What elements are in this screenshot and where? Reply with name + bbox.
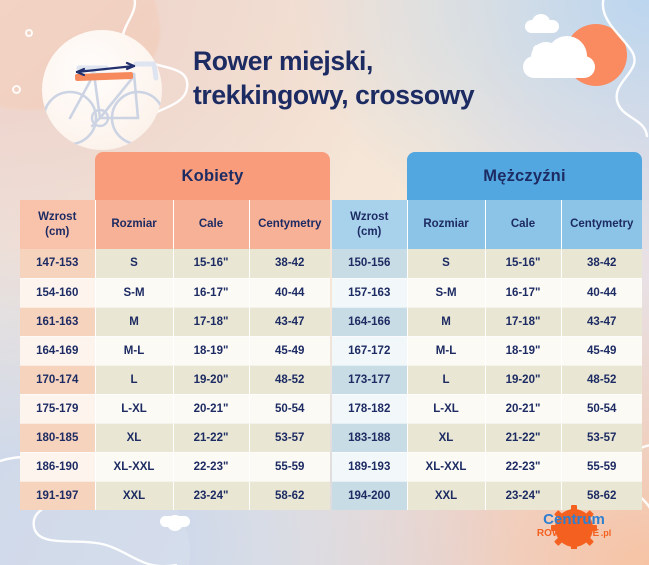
page-title: Rower miejski, trekkingowy, crossowy <box>193 44 593 113</box>
cell-wzrost: 161-163 <box>20 307 95 336</box>
table-row: 178-182L-XL20-21"50-54 <box>332 394 642 423</box>
bicycle-frame-diagram <box>42 30 162 150</box>
cell-rozmiar: XL <box>95 423 173 452</box>
cell-cale: 15-16" <box>485 249 561 278</box>
table-row: 173-177L19-20"48-52 <box>332 365 642 394</box>
cell-cale: 22-23" <box>173 452 249 481</box>
column-header-wzrost-line1: Wzrost <box>350 211 388 223</box>
cell-centymetry: 38-42 <box>249 249 330 278</box>
column-header-cale: Cale <box>173 200 249 249</box>
cell-centymetry: 55-59 <box>561 452 642 481</box>
table-row: 186-190XL-XXL22-23"55-59 <box>20 452 330 481</box>
cell-centymetry: 48-52 <box>249 365 330 394</box>
cell-rozmiar: XL <box>407 423 485 452</box>
table-banner-women: Kobiety <box>95 152 330 200</box>
cell-wzrost: 167-172 <box>332 336 407 365</box>
cell-cale: 23-24" <box>173 481 249 510</box>
page-title-line1: Rower miejski, <box>193 46 373 76</box>
cell-centymetry: 48-52 <box>561 365 642 394</box>
table-row: 161-163M17-18"43-47 <box>20 307 330 336</box>
column-header-wzrost-line2: (cm) <box>357 226 381 238</box>
cell-centymetry: 50-54 <box>249 394 330 423</box>
logo-centrum-rowerowe[interactable]: Centrum ROWEROWE .pl <box>518 503 630 549</box>
cell-centymetry: 43-47 <box>561 307 642 336</box>
cell-cale: 17-18" <box>173 307 249 336</box>
cell-rozmiar: M-L <box>407 336 485 365</box>
cell-rozmiar: XL-XXL <box>407 452 485 481</box>
cell-wzrost: 170-174 <box>20 365 95 394</box>
cell-centymetry: 55-59 <box>249 452 330 481</box>
cell-centymetry: 43-47 <box>249 307 330 336</box>
cell-cale: 21-22" <box>173 423 249 452</box>
table-body-women: 147-153S15-16"38-42154-160S-M16-17"40-44… <box>20 249 330 510</box>
cell-rozmiar: L-XL <box>407 394 485 423</box>
cell-wzrost: 183-188 <box>332 423 407 452</box>
cell-cale: 19-20" <box>485 365 561 394</box>
column-header-wzrost-line2: (cm) <box>45 226 69 238</box>
cell-rozmiar: S <box>95 249 173 278</box>
column-header-wzrost: Wzrost (cm) <box>332 200 407 249</box>
table-row: 150-156S15-16"38-42 <box>332 249 642 278</box>
table-row: 167-172M-L18-19"45-49 <box>332 336 642 365</box>
cell-wzrost: 175-179 <box>20 394 95 423</box>
cell-cale: 22-23" <box>485 452 561 481</box>
cell-centymetry: 53-57 <box>561 423 642 452</box>
column-header-rozmiar: Rozmiar <box>407 200 485 249</box>
cell-wzrost: 157-163 <box>332 278 407 307</box>
column-header-rozmiar: Rozmiar <box>95 200 173 249</box>
cell-cale: 21-22" <box>485 423 561 452</box>
column-header-wzrost: Wzrost (cm) <box>20 200 95 249</box>
cell-rozmiar: M-L <box>95 336 173 365</box>
cell-cale: 16-17" <box>173 278 249 307</box>
cell-centymetry: 58-62 <box>249 481 330 510</box>
size-table-women: Kobiety Wzrost (cm) Rozmiar Cale Centyme… <box>20 152 330 510</box>
cell-rozmiar: S-M <box>407 278 485 307</box>
table-row: 154-160S-M16-17"40-44 <box>20 278 330 307</box>
cell-cale: 16-17" <box>485 278 561 307</box>
cell-rozmiar: XXL <box>95 481 173 510</box>
cell-rozmiar: L <box>95 365 173 394</box>
cell-centymetry: 40-44 <box>561 278 642 307</box>
column-header-centymetry: Centymetry <box>561 200 642 249</box>
cell-rozmiar: XL-XXL <box>95 452 173 481</box>
table-row: 170-174L19-20"48-52 <box>20 365 330 394</box>
cell-wzrost: 180-185 <box>20 423 95 452</box>
cell-cale: 15-16" <box>173 249 249 278</box>
cell-wzrost: 150-156 <box>332 249 407 278</box>
cell-cale: 17-18" <box>485 307 561 336</box>
cell-wzrost: 194-200 <box>332 481 407 510</box>
column-header-centymetry: Centymetry <box>249 200 330 249</box>
cell-centymetry: 45-49 <box>561 336 642 365</box>
cell-rozmiar: M <box>407 307 485 336</box>
cell-cale: 18-19" <box>485 336 561 365</box>
table-banner-men: Mężczyźni <box>407 152 642 200</box>
table-row: 147-153S15-16"38-42 <box>20 249 330 278</box>
table-row: 164-169M-L18-19"45-49 <box>20 336 330 365</box>
column-header-cale: Cale <box>485 200 561 249</box>
table-row: 180-185XL21-22"53-57 <box>20 423 330 452</box>
logo-text-rowerowe: ROWEROWE <box>537 528 600 539</box>
cell-centymetry: 40-44 <box>249 278 330 307</box>
table-row: 191-197XXL23-24"58-62 <box>20 481 330 510</box>
table-body-men: 150-156S15-16"38-42157-163S-M16-17"40-44… <box>332 249 642 510</box>
cell-cale: 18-19" <box>173 336 249 365</box>
logo-text-centrum: Centrum <box>543 511 605 528</box>
logo-text-pl: .pl <box>601 528 612 538</box>
page-title-line2: trekkingowy, crossowy <box>193 78 593 112</box>
table-row: 164-166M17-18"43-47 <box>332 307 642 336</box>
table-row: 189-193XL-XXL22-23"55-59 <box>332 452 642 481</box>
cell-wzrost: 173-177 <box>332 365 407 394</box>
cell-wzrost: 164-166 <box>332 307 407 336</box>
cell-wzrost: 186-190 <box>20 452 95 481</box>
bicycle-illustration <box>42 30 162 150</box>
cell-rozmiar: S <box>407 249 485 278</box>
cell-wzrost: 191-197 <box>20 481 95 510</box>
table-row: 175-179L-XL20-21"50-54 <box>20 394 330 423</box>
cell-cale: 19-20" <box>173 365 249 394</box>
page-header: Rower miejski, trekkingowy, crossowy <box>0 0 649 148</box>
cell-rozmiar: L-XL <box>95 394 173 423</box>
cell-wzrost: 164-169 <box>20 336 95 365</box>
table-header-row: Wzrost (cm) Rozmiar Cale Centymetry <box>332 200 642 249</box>
table-header-row: Wzrost (cm) Rozmiar Cale Centymetry <box>20 200 330 249</box>
table-row: 183-188XL21-22"53-57 <box>332 423 642 452</box>
cell-wzrost: 147-153 <box>20 249 95 278</box>
cell-cale: 20-21" <box>173 394 249 423</box>
cell-centymetry: 38-42 <box>561 249 642 278</box>
column-header-wzrost-line1: Wzrost <box>38 211 76 223</box>
table-women: Wzrost (cm) Rozmiar Cale Centymetry 147-… <box>20 200 330 510</box>
table-row: 157-163S-M16-17"40-44 <box>332 278 642 307</box>
cell-centymetry: 45-49 <box>249 336 330 365</box>
size-table-men: Mężczyźni Wzrost (cm) Rozmiar Cale Centy… <box>332 152 642 510</box>
cell-rozmiar: L <box>407 365 485 394</box>
cell-centymetry: 53-57 <box>249 423 330 452</box>
cell-rozmiar: M <box>95 307 173 336</box>
cell-cale: 20-21" <box>485 394 561 423</box>
cell-centymetry: 50-54 <box>561 394 642 423</box>
table-men: Wzrost (cm) Rozmiar Cale Centymetry 150-… <box>332 200 642 510</box>
cell-wzrost: 189-193 <box>332 452 407 481</box>
cell-wzrost: 154-160 <box>20 278 95 307</box>
cell-rozmiar: XXL <box>407 481 485 510</box>
cell-rozmiar: S-M <box>95 278 173 307</box>
cell-wzrost: 178-182 <box>332 394 407 423</box>
